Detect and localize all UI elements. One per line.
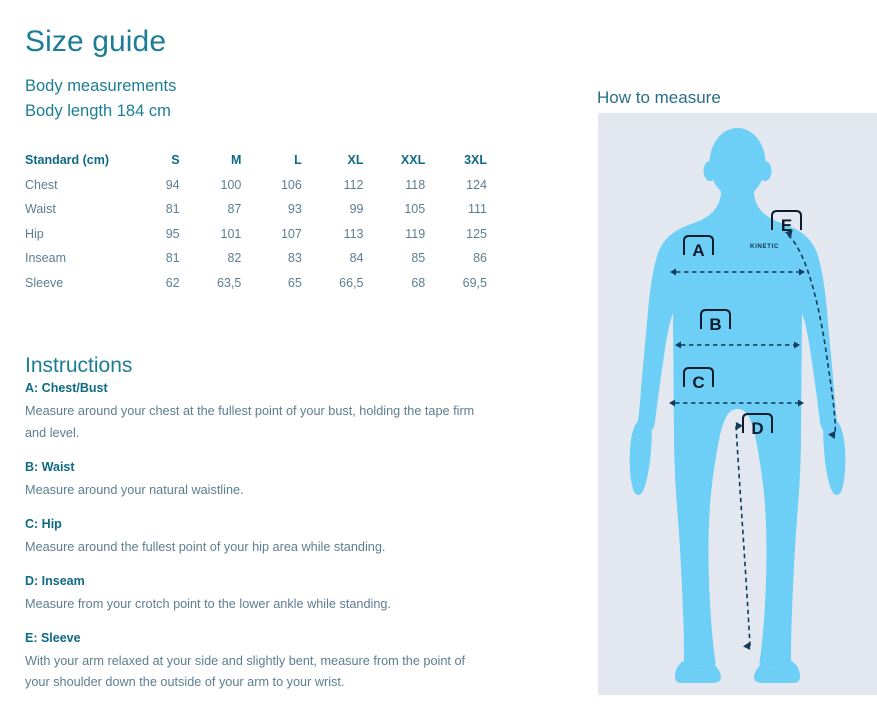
cell-sleeve-xxl: 68 [382, 271, 444, 296]
cell-inseam-s: 81 [140, 246, 198, 271]
brand-logo: KINETIC [750, 243, 779, 250]
size-table-body: Chest 94 100 106 112 118 124 Waist 81 87… [25, 173, 505, 296]
marker-label-b: B [709, 315, 721, 334]
instruction-item-inseam: D: Inseam Measure from your crotch point… [25, 574, 485, 616]
marker-label-e: E [781, 216, 792, 235]
body-silhouette [630, 128, 846, 683]
row-label-chest: Chest [25, 173, 140, 198]
column-header-xl: XL [320, 148, 382, 173]
instruction-body-waist: Measure around your natural waistline. [25, 480, 485, 502]
cell-sleeve-m: 63,5 [198, 271, 260, 296]
how-to-measure-figure-panel: KINETIC A [598, 113, 877, 695]
cell-inseam-3xl: 86 [443, 246, 505, 271]
marker-label-d: D [751, 419, 763, 438]
table-row: Waist 81 87 93 99 105 111 [25, 197, 505, 222]
cell-sleeve-3xl: 69,5 [443, 271, 505, 296]
column-header-standard: Standard (cm) [25, 148, 140, 173]
body-figure-diagram: KINETIC A [598, 113, 877, 695]
size-table: Standard (cm) S M L XL XXL 3XL Chest 94 … [25, 148, 505, 295]
cell-inseam-xxl: 85 [382, 246, 444, 271]
column-header-m: M [198, 148, 260, 173]
instruction-head-sleeve: E: Sleeve [25, 631, 485, 645]
cell-inseam-l: 83 [259, 246, 319, 271]
marker-label-c: C [692, 373, 704, 392]
cell-hip-l: 107 [259, 222, 319, 247]
cell-inseam-m: 82 [198, 246, 260, 271]
cell-sleeve-xl: 66,5 [320, 271, 382, 296]
row-label-waist: Waist [25, 197, 140, 222]
cell-hip-xl: 113 [320, 222, 382, 247]
cell-waist-3xl: 111 [443, 197, 505, 222]
inseam-measure-arrow [736, 426, 750, 646]
cell-chest-xxl: 118 [382, 173, 444, 198]
cell-chest-3xl: 124 [443, 173, 505, 198]
cell-chest-s: 94 [140, 173, 198, 198]
cell-waist-xxl: 105 [382, 197, 444, 222]
column-header-l: L [259, 148, 319, 173]
marker-label-a: A [692, 241, 704, 260]
size-table-head: Standard (cm) S M L XL XXL 3XL [25, 148, 505, 173]
cell-hip-3xl: 125 [443, 222, 505, 247]
body-measurements-heading: Body measurements [25, 74, 176, 99]
instruction-item-sleeve: E: Sleeve With your arm relaxed at your … [25, 631, 485, 694]
cell-hip-m: 101 [198, 222, 260, 247]
table-row: Hip 95 101 107 113 119 125 [25, 222, 505, 247]
instruction-body-hip: Measure around the fullest point of your… [25, 537, 485, 559]
cell-sleeve-l: 65 [259, 271, 319, 296]
row-label-sleeve: Sleeve [25, 271, 140, 296]
cell-inseam-xl: 84 [320, 246, 382, 271]
table-row: Chest 94 100 106 112 118 124 [25, 173, 505, 198]
cell-sleeve-s: 62 [140, 271, 198, 296]
column-header-s: S [140, 148, 198, 173]
page-title: Size guide [25, 25, 166, 59]
instruction-body-sleeve: With your arm relaxed at your side and s… [25, 651, 485, 694]
instruction-item-hip: C: Hip Measure around the fullest point … [25, 517, 485, 559]
instruction-body-inseam: Measure from your crotch point to the lo… [25, 594, 485, 616]
cell-hip-s: 95 [140, 222, 198, 247]
instruction-head-hip: C: Hip [25, 517, 485, 531]
size-table-header-row: Standard (cm) S M L XL XXL 3XL [25, 148, 505, 173]
cell-waist-l: 93 [259, 197, 319, 222]
body-length-subheading: Body length 184 cm [25, 99, 176, 124]
instruction-item-waist: B: Waist Measure around your natural wai… [25, 460, 485, 502]
cell-chest-xl: 112 [320, 173, 382, 198]
cell-waist-xl: 99 [320, 197, 382, 222]
row-label-hip: Hip [25, 222, 140, 247]
instruction-head-chest: A: Chest/Bust [25, 381, 485, 395]
row-label-inseam: Inseam [25, 246, 140, 271]
column-header-xxl: XXL [382, 148, 444, 173]
left-column: Size guide Body measurements Body length… [0, 0, 580, 715]
instruction-body-chest: Measure around your chest at the fullest… [25, 401, 485, 444]
instruction-head-waist: B: Waist [25, 460, 485, 474]
instruction-item-chest: A: Chest/Bust Measure around your chest … [25, 381, 485, 444]
cell-chest-l: 106 [259, 173, 319, 198]
table-row: Sleeve 62 63,5 65 66,5 68 69,5 [25, 271, 505, 296]
cell-hip-xxl: 119 [382, 222, 444, 247]
body-measurements-heading-block: Body measurements Body length 184 cm [25, 74, 176, 124]
how-to-measure-title: How to measure [597, 88, 721, 108]
table-row: Inseam 81 82 83 84 85 86 [25, 246, 505, 271]
cell-waist-m: 87 [198, 197, 260, 222]
right-column: How to measure [580, 0, 877, 715]
cell-chest-m: 100 [198, 173, 260, 198]
cell-waist-s: 81 [140, 197, 198, 222]
instructions-title: Instructions [25, 354, 132, 378]
column-header-3xl: 3XL [443, 148, 505, 173]
instructions-list: A: Chest/Bust Measure around your chest … [25, 381, 485, 709]
instruction-head-inseam: D: Inseam [25, 574, 485, 588]
